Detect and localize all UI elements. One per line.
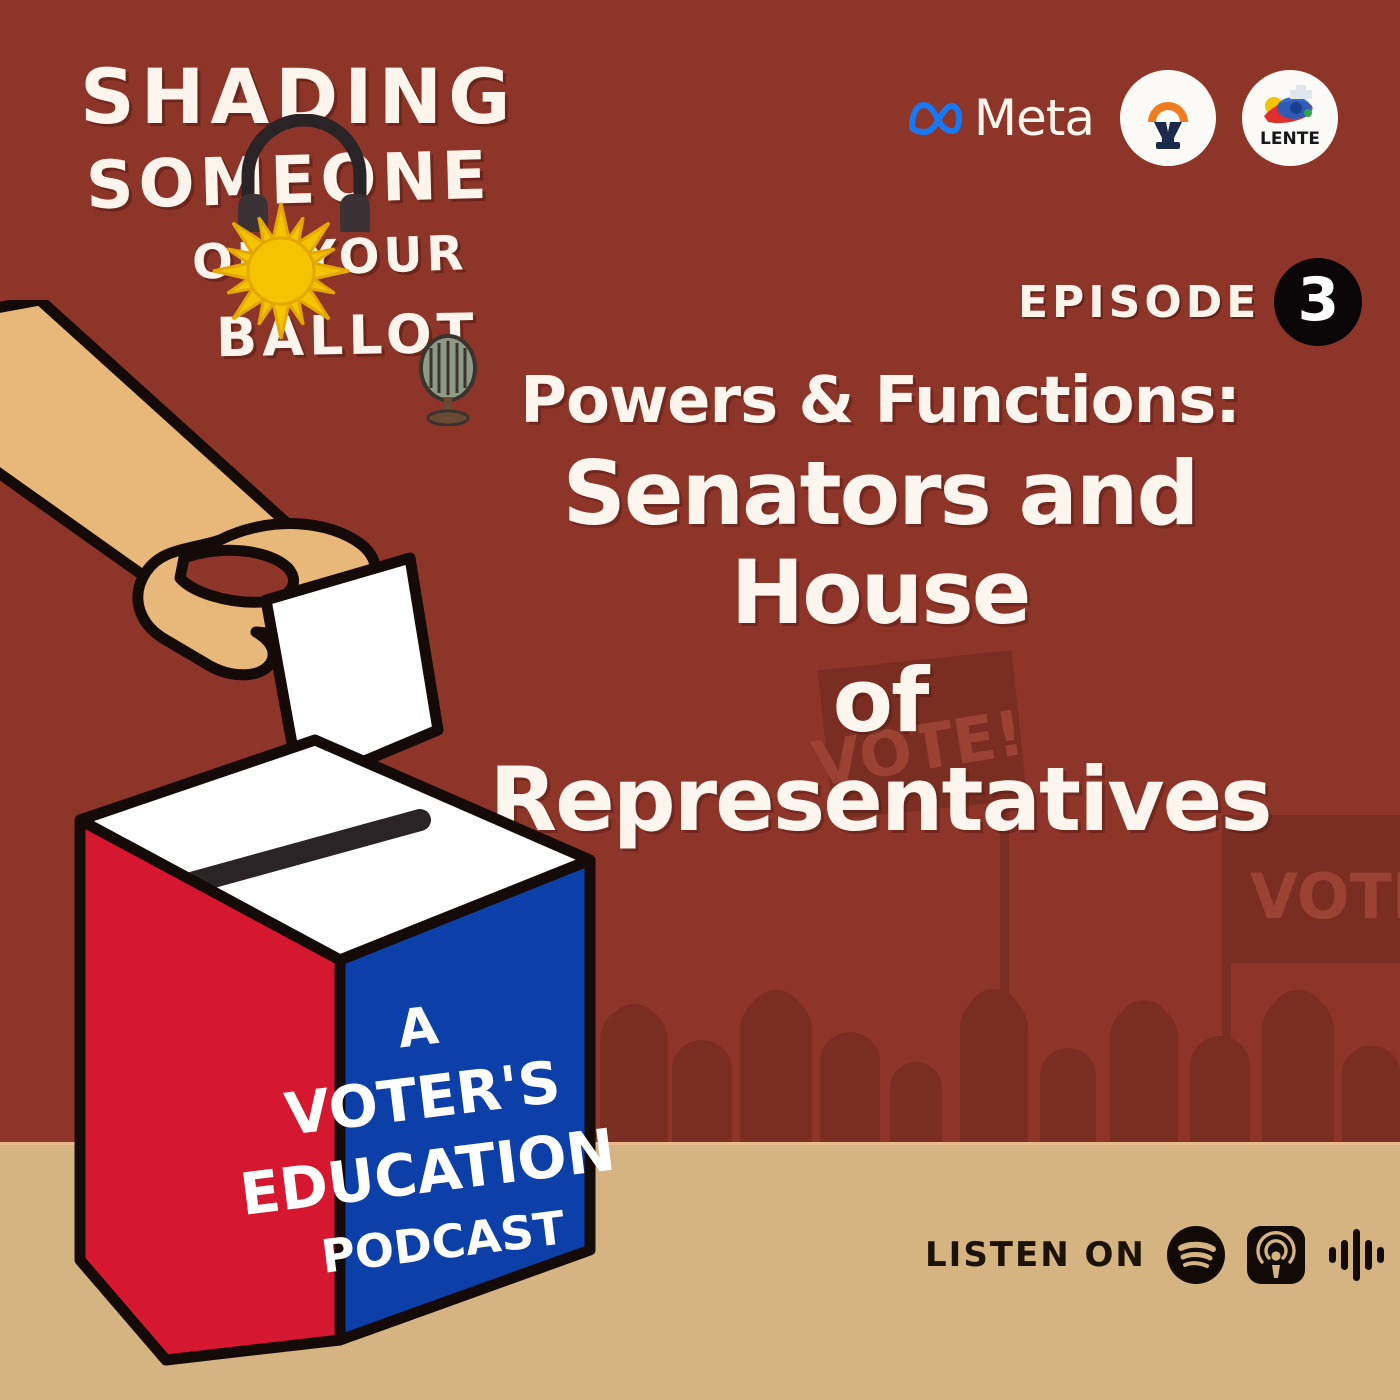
- lente-mark-icon: LENTE: [1250, 78, 1330, 158]
- episode-number-badge: 3: [1274, 258, 1362, 346]
- listen-on-label: LISTEN ON: [925, 1235, 1146, 1275]
- partner-circle-logo[interactable]: [1120, 70, 1216, 166]
- apple-podcasts-icon[interactable]: [1246, 1225, 1306, 1285]
- meta-logo[interactable]: Meta: [906, 89, 1094, 147]
- listen-on-row: LISTEN ON: [925, 1225, 1386, 1285]
- lente-logo[interactable]: LENTE: [1242, 70, 1338, 166]
- partner-mark-icon: [1132, 82, 1204, 154]
- partner-logos: Meta LENTE: [906, 70, 1338, 166]
- podcast-cover-poster: VOTE! VOTE! SHADING SOMEON: [0, 0, 1400, 1400]
- episode-indicator: EPISODE 3: [1018, 258, 1362, 346]
- spotify-icon[interactable]: [1166, 1225, 1226, 1285]
- episode-label: EPISODE: [1018, 277, 1260, 328]
- lente-wordmark: LENTE: [1260, 129, 1320, 149]
- meta-wordmark: Meta: [974, 89, 1094, 147]
- placard-text-2: VOTE!: [1250, 860, 1400, 933]
- box-caption-line-1: A: [394, 996, 441, 1060]
- meta-infinity-icon: [906, 99, 962, 137]
- google-podcasts-icon[interactable]: [1326, 1225, 1386, 1285]
- ballot-box-illustration: A VOTER'S EDUCATION PODCAST: [0, 300, 670, 1390]
